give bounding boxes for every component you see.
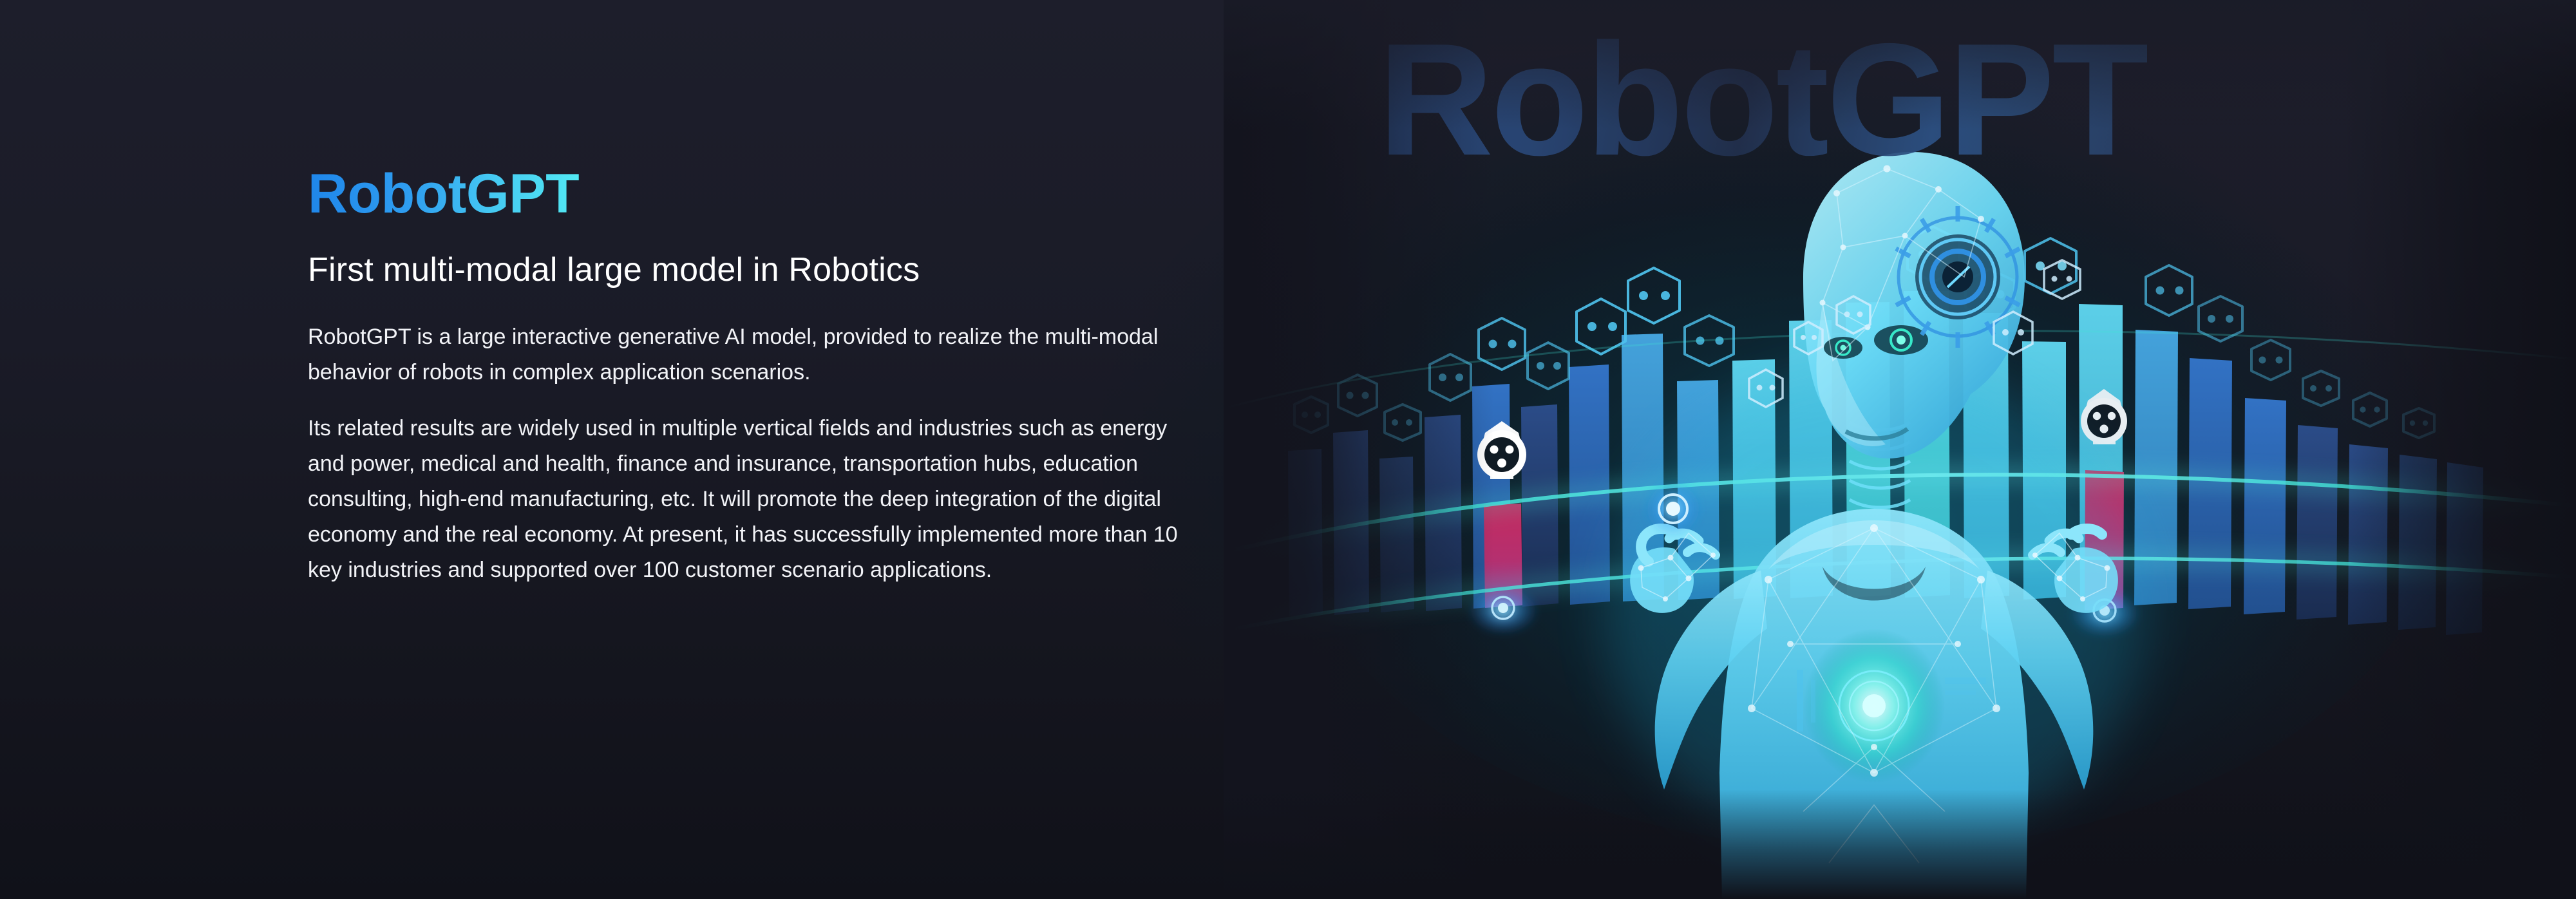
robot-hero-illustration [1224,0,2576,899]
page-title: RobotGPT [308,166,579,222]
robot-artwork-svg [1224,0,2576,899]
hero-banner: RobotGPT RobotGPT First multi-modal larg… [0,0,2576,899]
description-paragraph-1: RobotGPT is a large interactive generati… [308,319,1203,390]
page-subtitle: First multi-modal large model in Robotic… [308,251,1209,290]
hero-text-panel: RobotGPT First multi-modal large model i… [308,166,1209,588]
description-paragraph-2: Its related results are widely used in m… [308,411,1203,588]
